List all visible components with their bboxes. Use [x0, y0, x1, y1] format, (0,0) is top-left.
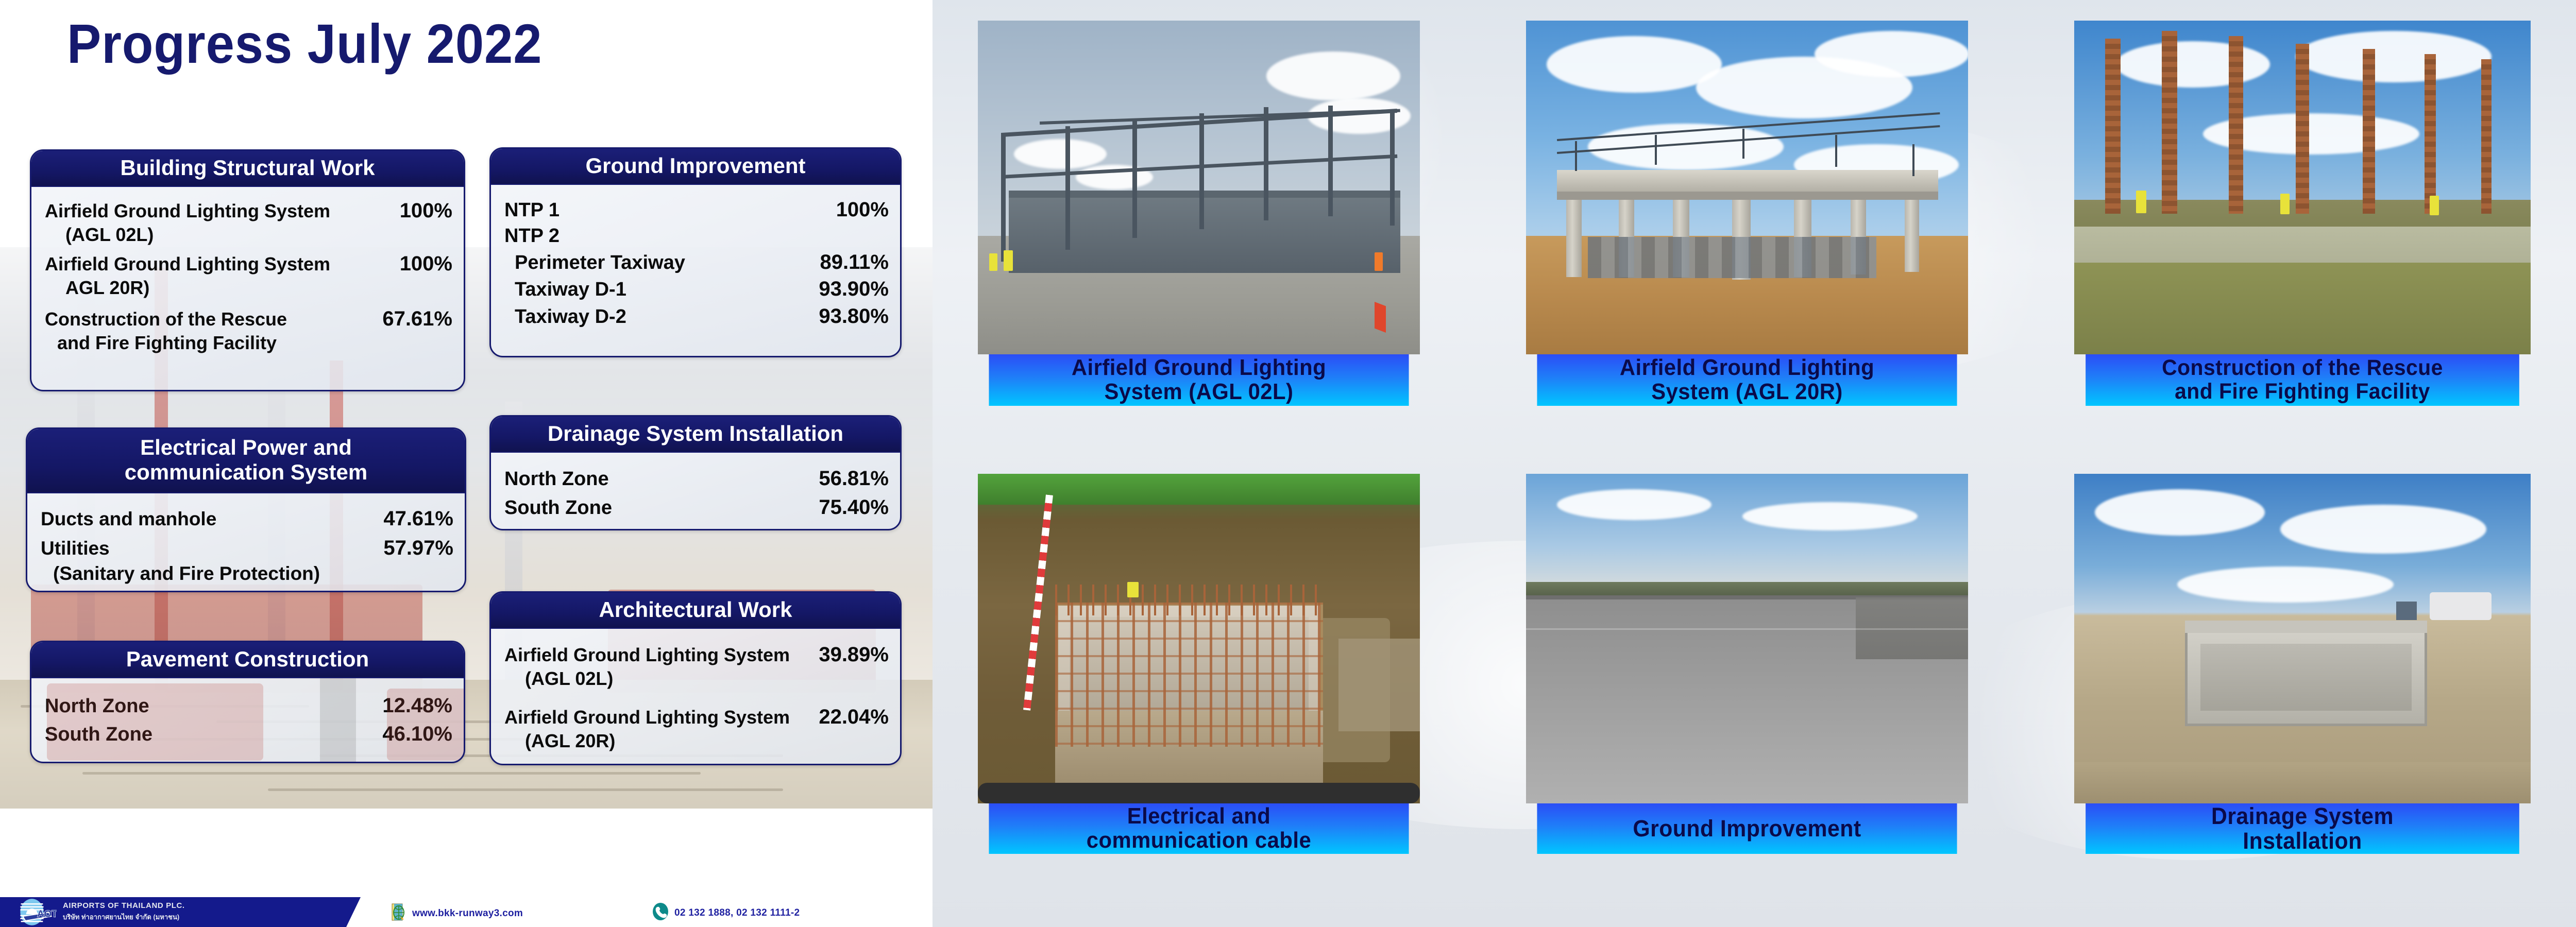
- card-heading: Building Structural Work: [31, 151, 464, 187]
- caption-line1: Construction of the Rescue: [2162, 356, 2443, 380]
- metric-value: 100%: [400, 251, 452, 277]
- photo-ground-improvement: [1526, 474, 1968, 803]
- metric-row: Ducts and manhole 47.61%: [41, 506, 453, 532]
- caption-drainage: Drainage System Installation: [2086, 803, 2519, 854]
- caption-line2: and Fire Fighting Facility: [2162, 380, 2443, 404]
- metric-value: 93.80%: [819, 303, 889, 330]
- aot-logo: AOT: [18, 898, 57, 926]
- metric-sublabel: (AGL 02L): [504, 667, 889, 690]
- metric-sublabel: and Fire Fighting Facility: [45, 332, 452, 354]
- caption-line1: Ground Improvement: [1633, 816, 1861, 841]
- caption-rescue-fire: Construction of the Rescue and Fire Figh…: [2086, 354, 2519, 406]
- metric-value: 39.89%: [819, 642, 889, 667]
- phone-icon: [652, 902, 669, 923]
- metric-value: 89.11%: [820, 249, 889, 276]
- metric-label: NTP 2: [504, 224, 889, 249]
- metric-row: Airfield Ground Lighting System 100%: [45, 251, 452, 277]
- caption-line1: Airfield Ground Lighting: [1620, 356, 1874, 380]
- footer-bar: AOT AIRPORTS OF THAILAND PLC. บริษัท ท่า…: [0, 897, 933, 927]
- metric-label: South Zone: [45, 721, 382, 748]
- card-heading: Architectural Work: [491, 593, 900, 629]
- metric-sublabel: (AGL 20R): [504, 730, 889, 752]
- metric-value: 47.61%: [383, 506, 453, 532]
- svg-text:AOT: AOT: [37, 908, 57, 919]
- metric-label: Airfield Ground Lighting System: [504, 706, 819, 729]
- footer-org-name: AIRPORTS OF THAILAND PLC. บริษัท ท่าอากา…: [63, 901, 185, 922]
- caption-agl-20r: Airfield Ground Lighting System (AGL 20R…: [1537, 354, 1957, 406]
- caption-agl-02l: Airfield Ground Lighting System (AGL 02L…: [989, 354, 1409, 406]
- metric-value: 67.61%: [382, 306, 452, 332]
- metric-label: Taxiway D-1: [515, 277, 819, 302]
- metric-label: Construction of the Rescue: [45, 308, 382, 331]
- metric-value: 12.48%: [382, 692, 452, 720]
- caption-line1: Airfield Ground Lighting: [1072, 356, 1326, 380]
- metric-value: 57.97%: [383, 535, 453, 561]
- metric-row: Utilities 57.97%: [41, 535, 453, 561]
- photo-electrical-cable: [978, 474, 1420, 803]
- card-body: North Zone 12.48% South Zone 46.10%: [31, 678, 464, 757]
- metric-value: 46.10%: [382, 720, 452, 748]
- metric-label: Airfield Ground Lighting System: [45, 253, 400, 276]
- photo-tile-ground-improvement: Ground Improvement: [1526, 474, 1968, 906]
- card-body: NTP 1 100% NTP 2 Perimeter Taxiway 89.11…: [491, 185, 900, 338]
- metric-row: NTP 2: [504, 224, 889, 249]
- metric-row: Taxiway D-2 93.80%: [504, 303, 889, 330]
- card-body: Airfield Ground Lighting System 39.89% (…: [491, 629, 900, 760]
- card-drainage-system-installation: Drainage System Installation North Zone …: [489, 415, 902, 530]
- caption-line2: Installation: [2211, 829, 2394, 853]
- metric-label: South Zone: [504, 494, 819, 522]
- metric-row: South Zone 46.10%: [45, 720, 452, 748]
- card-electrical-power-communication: Electrical Power and communication Syste…: [26, 427, 466, 592]
- metric-row: Airfield Ground Lighting System 22.04%: [504, 705, 889, 730]
- metric-label: North Zone: [504, 466, 819, 493]
- photo-rescue-fire: [2074, 21, 2531, 354]
- metric-value: 100%: [836, 196, 889, 223]
- metric-value: 100%: [400, 198, 452, 224]
- metric-row: Taxiway D-1 93.90%: [504, 276, 889, 302]
- caption-line1: Drainage System: [2211, 804, 2394, 829]
- metric-value: 75.40%: [819, 493, 889, 522]
- card-heading-line1: Electrical Power and: [32, 435, 460, 460]
- metric-row: NTP 1 100%: [504, 196, 889, 223]
- photo-gallery-panel: Airfield Ground Lighting System (AGL 02L…: [933, 0, 2576, 927]
- metric-row: Perimeter Taxiway 89.11%: [504, 249, 889, 276]
- globe-icon: [392, 903, 407, 923]
- metric-label: North Zone: [45, 693, 382, 719]
- footer-phone[interactable]: 02 132 1888, 02 132 1111-2: [652, 902, 800, 923]
- card-heading-line2: communication System: [32, 460, 460, 485]
- metric-label: Perimeter Taxiway: [515, 250, 820, 276]
- caption-line1: Electrical and: [1087, 804, 1311, 829]
- card-heading: Drainage System Installation: [491, 417, 900, 453]
- caption-line2: System (AGL 20R): [1620, 380, 1874, 404]
- card-body: North Zone 56.81% South Zone 75.40%: [491, 453, 900, 530]
- metric-value: 22.04%: [819, 705, 889, 730]
- metric-label: NTP 1: [504, 198, 836, 223]
- photo-agl-20r: [1526, 21, 1968, 354]
- card-pavement-construction: Pavement Construction North Zone 12.48% …: [30, 641, 465, 763]
- metric-row: North Zone 56.81%: [504, 464, 889, 493]
- photo-agl-02l: [978, 21, 1420, 354]
- metric-value: 56.81%: [819, 464, 889, 493]
- footer-website[interactable]: www.bkk-runway3.com: [392, 903, 523, 923]
- caption-ground-improvement: Ground Improvement: [1537, 803, 1957, 854]
- metric-sublabel: (Sanitary and Fire Protection): [41, 561, 453, 586]
- card-heading: Ground Improvement: [491, 149, 900, 185]
- metric-row: Airfield Ground Lighting System 100%: [45, 198, 452, 224]
- metric-label: Utilities: [41, 536, 383, 560]
- metric-row: Airfield Ground Lighting System 39.89%: [504, 642, 889, 667]
- card-building-structural-work: Building Structural Work Airfield Ground…: [30, 149, 465, 391]
- card-body: Airfield Ground Lighting System 100% (AG…: [31, 187, 464, 362]
- footer-org-name-th: บริษัท ท่าอากาศยานไทย จำกัด (มหาชน): [63, 912, 185, 922]
- photo-tile-rescue-fire: Construction of the Rescue and Fire Figh…: [2074, 21, 2531, 448]
- card-architectural-work: Architectural Work Airfield Ground Light…: [489, 591, 902, 765]
- metric-label: Airfield Ground Lighting System: [504, 644, 819, 666]
- phone-number[interactable]: 02 132 1888, 02 132 1111-2: [674, 907, 800, 919]
- metric-row: Construction of the Rescue 67.61%: [45, 306, 452, 332]
- photo-tile-drainage: Drainage System Installation: [2074, 474, 2531, 906]
- card-heading: Pavement Construction: [31, 642, 464, 678]
- card-heading: Electrical Power and communication Syste…: [27, 429, 465, 493]
- metric-label: Airfield Ground Lighting System: [45, 200, 400, 222]
- photo-tile-electrical-cable: Electrical and communication cable: [978, 474, 1420, 906]
- card-ground-improvement: Ground Improvement NTP 1 100% NTP 2 Peri…: [489, 147, 902, 357]
- left-info-panel: Progress July 2022 Building Structural W…: [0, 0, 933, 927]
- caption-line2: System (AGL 02L): [1072, 380, 1326, 404]
- metric-row: North Zone 12.48%: [45, 692, 452, 720]
- metric-row: South Zone 75.40%: [504, 493, 889, 522]
- footer-org-name-en: AIRPORTS OF THAILAND PLC.: [63, 901, 185, 910]
- website-url[interactable]: www.bkk-runway3.com: [412, 908, 523, 919]
- metric-sublabel: (AGL 02L): [45, 224, 452, 246]
- page-title: Progress July 2022: [67, 14, 542, 73]
- metric-label: Taxiway D-2: [515, 304, 819, 330]
- caption-electrical-cable: Electrical and communication cable: [989, 803, 1409, 854]
- metric-value: 93.90%: [819, 276, 889, 302]
- photo-tile-agl-02l: Airfield Ground Lighting System (AGL 02L…: [978, 21, 1420, 448]
- caption-line2: communication cable: [1087, 829, 1311, 853]
- card-body: Ducts and manhole 47.61% Utilities 57.97…: [27, 493, 465, 592]
- metric-label: Ducts and manhole: [41, 507, 383, 531]
- metric-sublabel: AGL 20R): [45, 277, 452, 299]
- photo-tile-agl-20r: Airfield Ground Lighting System (AGL 20R…: [1526, 21, 1968, 448]
- photo-drainage: [2074, 474, 2531, 803]
